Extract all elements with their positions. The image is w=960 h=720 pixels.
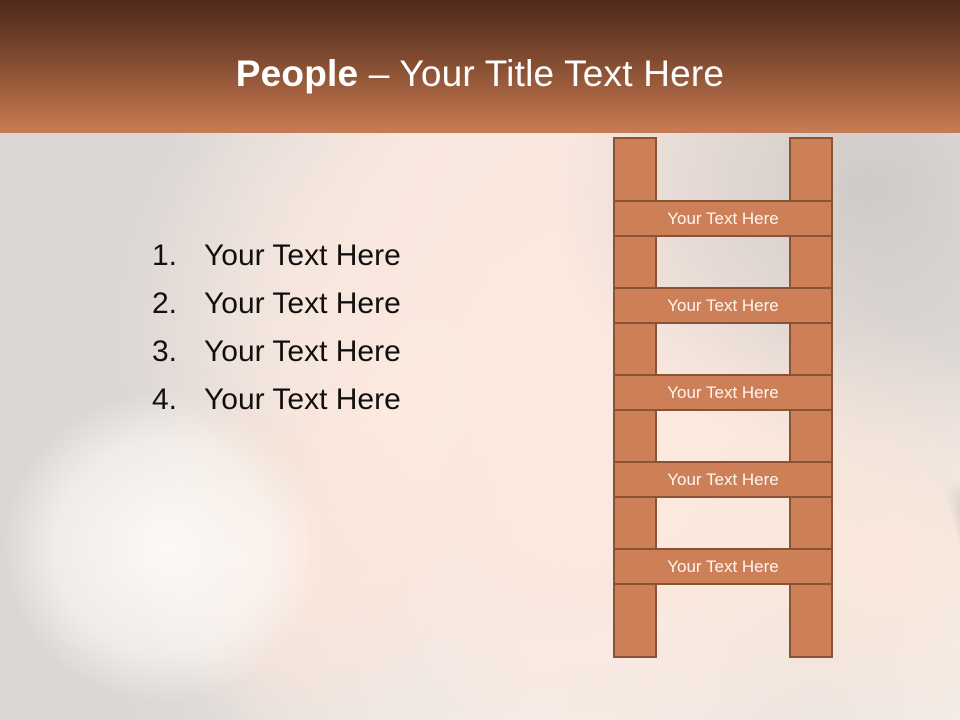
ladder-rung[interactable]: Your Text Here [613,200,833,237]
ladder-rung-label: Your Text Here [667,209,779,229]
list-item-number: 3. [152,328,204,376]
list-item-label[interactable]: Your Text Here [204,376,552,424]
list-item: 2. Your Text Here [152,280,552,328]
ladder-diagram: Your Text Here Your Text Here Your Text … [613,137,833,658]
list-item-label[interactable]: Your Text Here [204,232,552,280]
list-item-label[interactable]: Your Text Here [204,280,552,328]
ladder-rung-label: Your Text Here [667,470,779,490]
title-bar: People – Your Title Text Here [0,0,960,133]
list-item-number: 4. [152,376,204,424]
list-item: 1. Your Text Here [152,232,552,280]
list-item-label[interactable]: Your Text Here [204,328,552,376]
ladder-rung[interactable]: Your Text Here [613,461,833,498]
ladder-rung-label: Your Text Here [667,557,779,577]
numbered-list: 1. Your Text Here 2. Your Text Here 3. Y… [152,232,552,424]
list-item-number: 2. [152,280,204,328]
ladder-gap [657,237,789,287]
ladder-gap [657,137,789,200]
list-item: 4. Your Text Here [152,376,552,424]
ladder-gap [657,585,789,658]
slide-canvas: People – Your Title Text Here 1. Your Te… [0,0,960,720]
ladder-gap [657,324,789,374]
ladder-rung-label: Your Text Here [667,383,779,403]
ladder-rung[interactable]: Your Text Here [613,287,833,324]
page-title-emphasis: People [236,53,359,94]
page-title-remainder: – Your Title Text Here [358,53,724,94]
page-title: People – Your Title Text Here [0,52,960,96]
ladder-gap [657,498,789,548]
list-item-number: 1. [152,232,204,280]
ladder-rung[interactable]: Your Text Here [613,548,833,585]
ladder-rung-label: Your Text Here [667,296,779,316]
list-item: 3. Your Text Here [152,328,552,376]
ladder-gap [657,411,789,461]
ladder-rung[interactable]: Your Text Here [613,374,833,411]
